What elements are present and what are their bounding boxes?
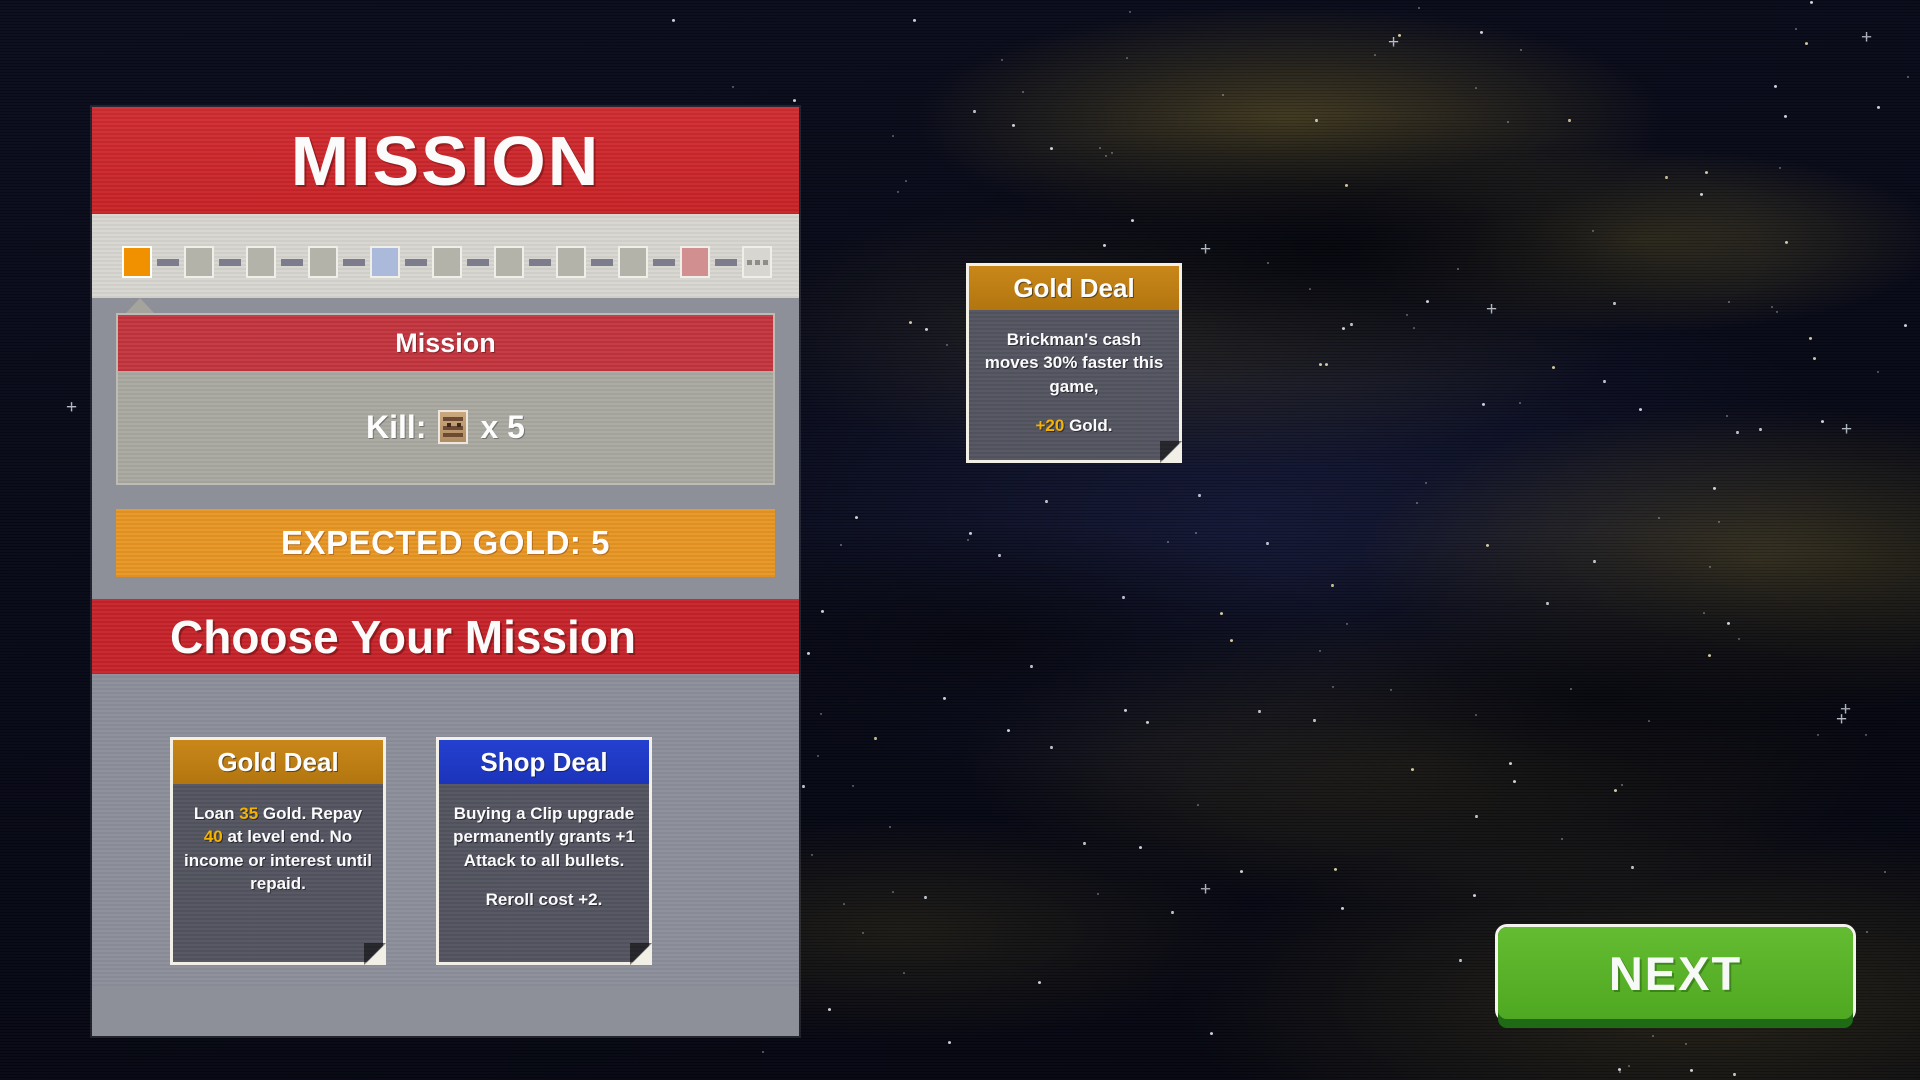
star	[1097, 893, 1099, 895]
star	[1099, 147, 1101, 149]
tooltip-title: Gold Deal	[1013, 273, 1134, 304]
track-node-normal[interactable]	[618, 246, 648, 278]
star	[817, 755, 819, 757]
star	[1418, 7, 1420, 9]
star	[1648, 720, 1650, 722]
star	[1631, 866, 1634, 869]
star-sparkle-icon: +	[66, 398, 77, 417]
star	[1210, 1032, 1213, 1035]
track-node-elite[interactable]	[370, 246, 400, 278]
star	[1230, 639, 1233, 642]
deal-card-body: Loan 35 Gold. Repay 40 at level end. No …	[173, 784, 383, 918]
star	[1866, 931, 1868, 933]
star	[1727, 622, 1730, 625]
star	[1709, 566, 1711, 568]
star	[1726, 415, 1728, 417]
star	[1195, 532, 1197, 534]
objective-suffix-label: x 5	[480, 409, 524, 446]
star	[1700, 193, 1703, 196]
deals-area: Gold DealLoan 35 Gold. Repay 40 at level…	[92, 674, 799, 986]
star	[1865, 734, 1867, 736]
star	[820, 713, 822, 715]
deal-card-gold[interactable]: Gold DealLoan 35 Gold. Repay 40 at level…	[170, 737, 386, 965]
star	[1907, 76, 1909, 78]
star	[1459, 959, 1462, 962]
star	[1124, 709, 1127, 712]
deal-card-title: Shop Deal	[480, 747, 607, 778]
current-node-pointer-icon	[126, 298, 154, 313]
star	[1457, 268, 1459, 270]
star	[1639, 408, 1642, 411]
star	[913, 19, 916, 22]
star	[852, 785, 854, 787]
star	[1126, 57, 1128, 59]
star	[1411, 768, 1414, 771]
star	[811, 854, 813, 856]
gold-deal-tooltip: Gold Deal Brickman's cash moves 30% fast…	[966, 263, 1182, 463]
star	[1475, 714, 1477, 716]
track-node-normal[interactable]	[246, 246, 276, 278]
star	[1779, 167, 1781, 169]
star	[821, 610, 824, 613]
star	[1319, 363, 1322, 366]
star	[1258, 710, 1261, 713]
star	[1240, 870, 1243, 873]
deal-card-body: Buying a Clip upgrade permanently grants…	[439, 784, 649, 934]
star	[1342, 327, 1345, 330]
deal-amount-value: 40	[204, 827, 223, 846]
star	[969, 532, 972, 535]
star	[1705, 171, 1708, 174]
star	[1718, 521, 1720, 523]
next-button[interactable]: NEXT	[1498, 927, 1853, 1019]
progress-track-region	[92, 214, 799, 298]
star	[1546, 602, 1549, 605]
track-link	[219, 259, 241, 266]
star	[1736, 431, 1739, 434]
star	[1658, 517, 1660, 519]
star	[1613, 302, 1616, 305]
deal-card-header: Gold Deal	[173, 740, 383, 784]
star	[1345, 184, 1348, 187]
deal-card-header: Shop Deal	[439, 740, 649, 784]
star	[1708, 654, 1711, 657]
star	[855, 516, 858, 519]
star-sparkle-icon: +	[1388, 33, 1399, 52]
star	[1621, 784, 1623, 786]
star	[1759, 428, 1762, 431]
mission-panel: MISSION Mission Kill: x 5 EXPECTED GOLD:…	[92, 107, 799, 1036]
star	[1520, 49, 1522, 51]
deal-amount-value: 35	[239, 804, 258, 823]
star	[1519, 402, 1521, 404]
expected-gold-label: EXPECTED GOLD: 5	[281, 524, 610, 562]
star	[1568, 119, 1571, 122]
mission-detail-box: Mission Kill: x 5	[116, 313, 775, 485]
star	[1614, 789, 1617, 792]
star	[905, 180, 907, 182]
star	[874, 737, 877, 740]
star	[897, 191, 899, 193]
star	[924, 896, 927, 899]
star	[1513, 780, 1516, 783]
star	[1552, 366, 1555, 369]
star	[1619, 1071, 1621, 1073]
star	[1509, 762, 1512, 765]
mission-objective: Kill: x 5	[118, 371, 773, 483]
star	[1809, 337, 1812, 340]
star	[892, 135, 894, 137]
star	[1129, 11, 1131, 13]
star	[807, 652, 810, 655]
track-node-normal[interactable]	[308, 246, 338, 278]
star	[1038, 981, 1041, 984]
star	[1045, 500, 1048, 503]
star	[840, 544, 842, 546]
star	[1331, 584, 1334, 587]
star	[1561, 838, 1563, 840]
star	[862, 932, 864, 934]
star-sparkle-icon: +	[1861, 28, 1872, 47]
star	[1346, 623, 1348, 625]
track-node-normal[interactable]	[432, 246, 462, 278]
star	[1139, 846, 1142, 849]
track-link	[529, 259, 551, 266]
star	[1374, 54, 1376, 56]
deal-card-title: Gold Deal	[217, 747, 338, 778]
star	[1313, 719, 1316, 722]
star-sparkle-icon: +	[1836, 710, 1847, 729]
deal-amount-value: 20	[1045, 416, 1064, 435]
star	[1628, 1065, 1630, 1067]
track-node-more[interactable]	[742, 246, 772, 278]
star	[1007, 729, 1010, 732]
track-node-normal[interactable]	[556, 246, 586, 278]
star	[1603, 380, 1606, 383]
star	[998, 554, 1001, 557]
star-sparkle-icon: +	[1200, 240, 1211, 259]
star	[1733, 1073, 1736, 1076]
star	[1473, 894, 1476, 897]
star	[1884, 871, 1886, 873]
star	[1122, 596, 1125, 599]
star	[1738, 638, 1740, 640]
star	[1784, 115, 1787, 118]
progress-track[interactable]	[92, 242, 799, 282]
deal-text-segment: Brickman's cash moves 30% faster this ga…	[985, 330, 1164, 396]
star	[1685, 1043, 1687, 1045]
star	[1350, 323, 1353, 326]
star	[1507, 121, 1509, 123]
star	[1774, 85, 1777, 88]
tooltip-body: Brickman's cash moves 30% faster this ga…	[969, 310, 1179, 460]
star	[1813, 357, 1816, 360]
star	[1030, 665, 1033, 668]
star	[1171, 911, 1174, 914]
star	[1817, 734, 1819, 736]
star	[1390, 689, 1392, 691]
choose-mission-banner: Choose Your Mission	[92, 599, 799, 674]
deal-text-line: Brickman's cash moves 30% faster this ga…	[979, 328, 1169, 398]
star	[1050, 746, 1053, 749]
deal-text-segment: Buying a Clip upgrade permanently grants…	[453, 804, 635, 870]
star	[1592, 230, 1594, 232]
star	[925, 328, 928, 331]
star-sparkle-icon: +	[1486, 300, 1497, 319]
star	[1001, 59, 1003, 61]
star	[1593, 560, 1596, 563]
star	[672, 19, 675, 22]
star	[1703, 612, 1705, 614]
star	[967, 539, 969, 541]
star	[1904, 324, 1907, 327]
star	[1413, 327, 1415, 329]
star-sparkle-icon: +	[1200, 880, 1211, 899]
enemy-brick-icon	[438, 410, 468, 444]
deal-text-line: Reroll cost +2.	[449, 888, 639, 911]
star	[1315, 119, 1318, 122]
track-node-normal[interactable]	[494, 246, 524, 278]
deal-text-segment: Loan	[194, 804, 239, 823]
star	[828, 1008, 831, 1011]
star	[1146, 721, 1149, 724]
star	[946, 344, 948, 346]
track-link	[343, 259, 365, 266]
star	[892, 891, 894, 893]
star	[1131, 219, 1134, 222]
star	[1198, 494, 1201, 497]
star	[1267, 262, 1269, 264]
star	[1618, 1068, 1621, 1071]
deal-amount-value: +	[1035, 416, 1045, 435]
star	[793, 99, 796, 102]
deal-text-segment: Gold. Repay	[258, 804, 362, 823]
star	[1325, 363, 1328, 366]
star	[943, 697, 946, 700]
star	[1771, 306, 1773, 308]
mission-box-header: Mission	[118, 315, 773, 371]
star	[1690, 1069, 1693, 1072]
star	[1795, 28, 1797, 30]
star	[1416, 502, 1418, 504]
star	[1776, 311, 1778, 313]
star	[1022, 91, 1024, 93]
expected-gold-bar: EXPECTED GOLD: 5	[116, 509, 775, 577]
star	[762, 1051, 764, 1053]
star	[1728, 301, 1730, 303]
track-node-boss[interactable]	[680, 246, 710, 278]
star	[1103, 244, 1106, 247]
star	[909, 321, 912, 324]
deal-text-line: Loan 35 Gold. Repay 40 at level end. No …	[183, 802, 373, 896]
star	[1220, 612, 1223, 615]
star	[1877, 106, 1880, 109]
track-link	[653, 259, 675, 266]
star	[1012, 124, 1015, 127]
star	[1475, 815, 1478, 818]
star	[1266, 542, 1269, 545]
star	[1805, 42, 1808, 45]
star	[1821, 420, 1824, 423]
panel-title-bar: MISSION	[92, 107, 799, 214]
star	[1341, 907, 1344, 910]
star	[1425, 482, 1427, 484]
star	[1482, 403, 1485, 406]
star	[843, 903, 845, 905]
track-link	[281, 259, 303, 266]
track-link	[467, 259, 489, 266]
objective-prefix-label: Kill:	[366, 409, 426, 446]
track-node-current[interactable]	[122, 246, 152, 278]
page-title: MISSION	[291, 121, 601, 201]
star	[732, 86, 734, 88]
star	[1486, 544, 1489, 547]
star	[802, 785, 805, 788]
deal-text-segment: Gold.	[1064, 416, 1112, 435]
star	[1197, 804, 1199, 806]
track-link	[715, 259, 737, 266]
star	[1083, 842, 1086, 845]
star	[1309, 288, 1311, 290]
star	[1475, 87, 1477, 89]
star	[1334, 868, 1337, 871]
star	[903, 972, 905, 974]
star	[889, 826, 891, 828]
star	[1332, 686, 1334, 688]
star	[1570, 688, 1572, 690]
star	[948, 1041, 951, 1044]
track-link	[405, 259, 427, 266]
star	[973, 110, 976, 113]
star	[1426, 300, 1429, 303]
star	[1877, 371, 1879, 373]
star	[1713, 487, 1716, 490]
star	[1652, 1035, 1654, 1037]
tooltip-header: Gold Deal	[969, 266, 1179, 310]
star-sparkle-icon: +	[1841, 420, 1852, 439]
star	[1105, 155, 1107, 157]
choose-mission-label: Choose Your Mission	[170, 610, 636, 664]
star	[1111, 152, 1113, 154]
deal-text-segment: Reroll cost +2.	[486, 890, 603, 909]
star	[1480, 31, 1483, 34]
star	[1785, 241, 1788, 244]
star	[1167, 541, 1169, 543]
star	[1222, 94, 1224, 96]
deal-text-line: +20 Gold.	[979, 414, 1169, 437]
star	[1050, 147, 1053, 150]
track-node-normal[interactable]	[184, 246, 214, 278]
track-link	[157, 259, 179, 266]
deal-text-line: Buying a Clip upgrade permanently grants…	[449, 802, 639, 872]
star	[1319, 650, 1321, 652]
track-link	[591, 259, 613, 266]
star	[1406, 314, 1408, 316]
deal-card-shop[interactable]: Shop DealBuying a Clip upgrade permanent…	[436, 737, 652, 965]
star	[1810, 1, 1813, 4]
star	[1665, 176, 1668, 179]
mission-box-header-label: Mission	[395, 328, 496, 359]
